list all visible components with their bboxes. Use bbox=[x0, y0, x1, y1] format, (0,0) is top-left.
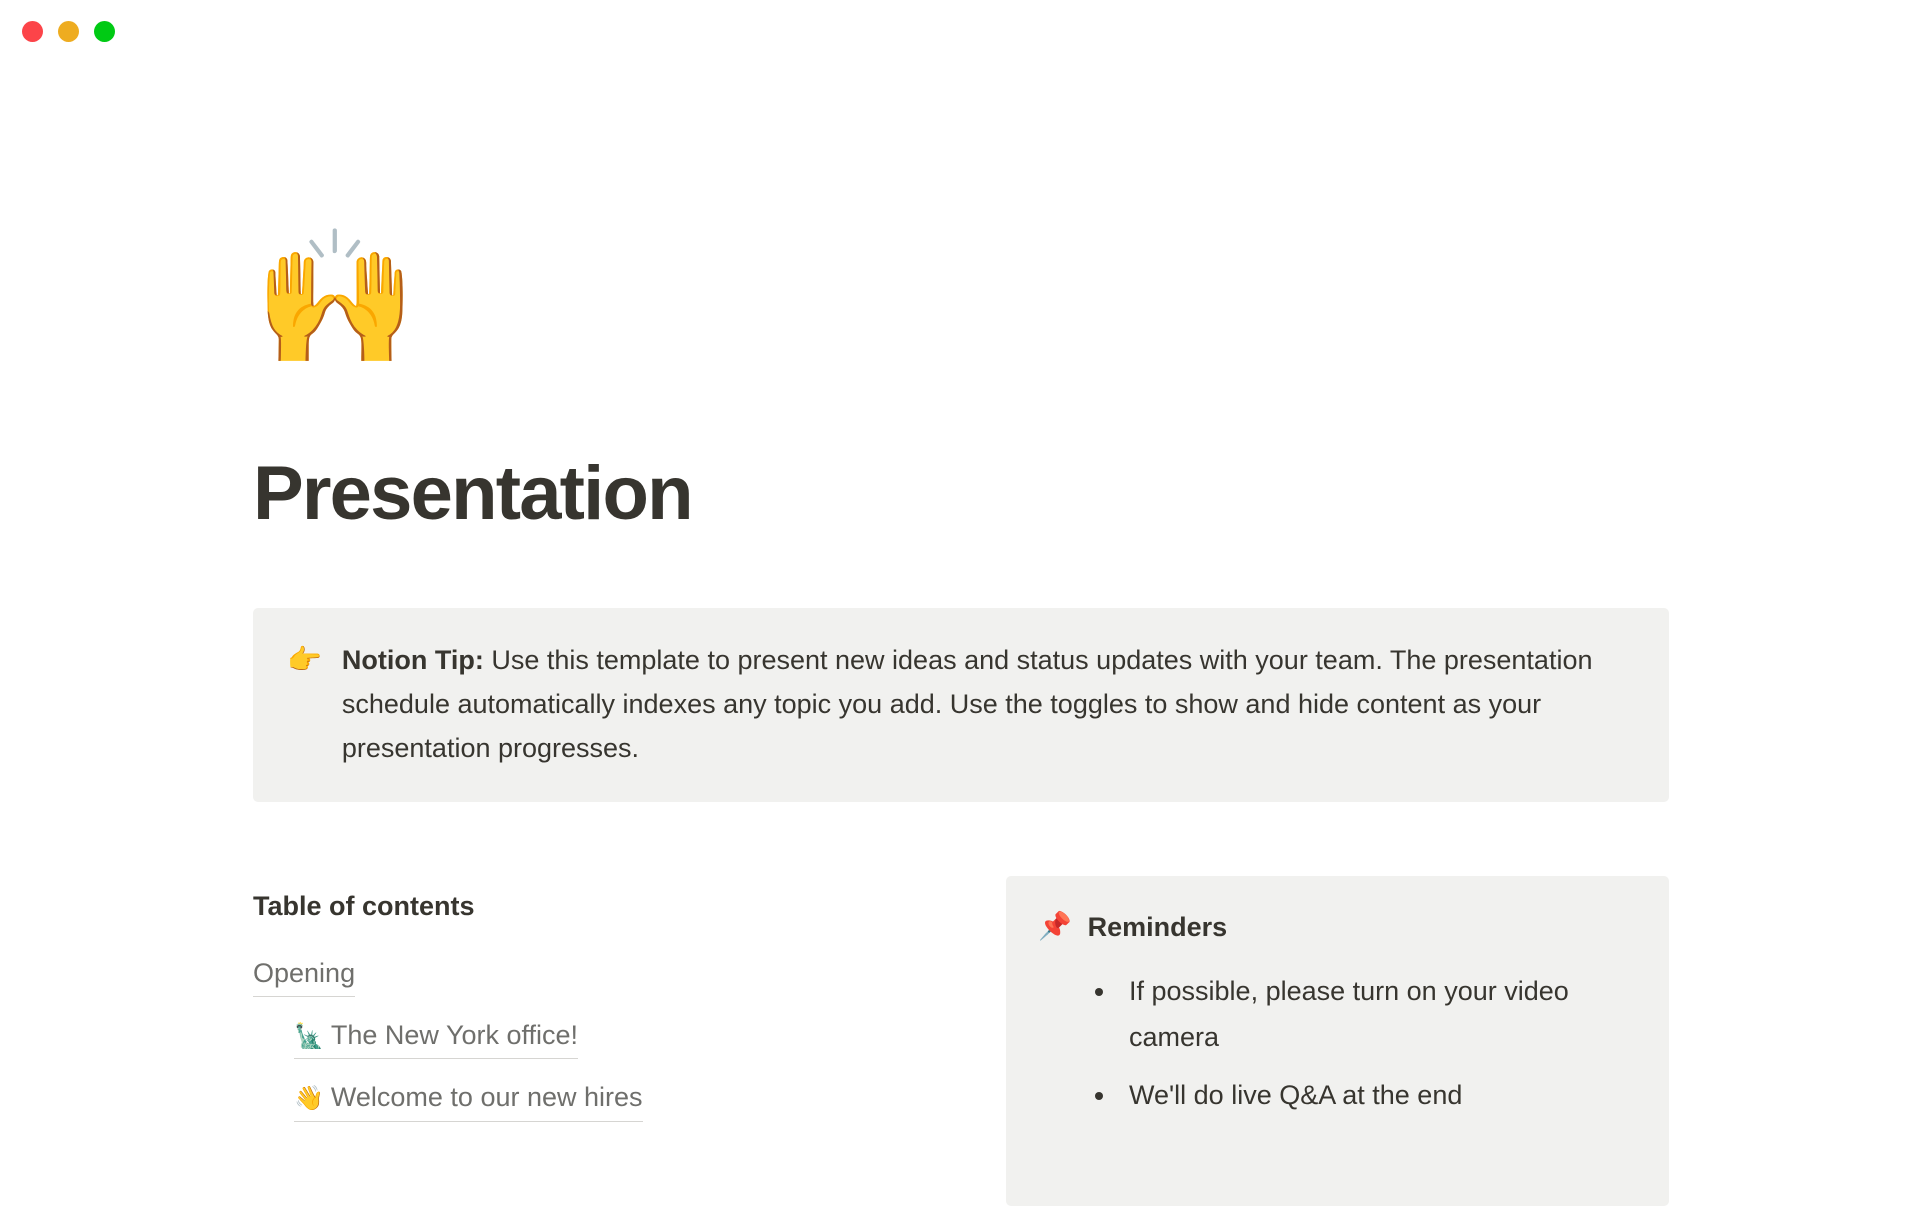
table-of-contents-heading: Table of contents bbox=[253, 889, 1006, 924]
traffic-light-group bbox=[22, 21, 115, 42]
list-item: 🗽The New York office! bbox=[253, 1016, 1006, 1059]
minimize-window-icon[interactable] bbox=[58, 21, 79, 42]
reminders-header: 📌 Reminders bbox=[1038, 908, 1639, 946]
pointing-right-icon: 👉 bbox=[287, 638, 322, 682]
reminders-list: If possible, please turn on your video c… bbox=[1038, 968, 1639, 1118]
waving-hand-icon: 👋 bbox=[294, 1084, 324, 1112]
document-page: 🙌 Presentation 👉 Notion Tip: Use this te… bbox=[0, 62, 1920, 1200]
list-item: Opening bbox=[253, 954, 1006, 997]
callout-text: Notion Tip: Use this template to present… bbox=[342, 638, 1631, 770]
callout-body: Use this template to present new ideas a… bbox=[342, 645, 1593, 763]
list-item: 👋Welcome to our new hires bbox=[253, 1078, 1006, 1121]
toc-link-opening[interactable]: Opening bbox=[253, 954, 355, 997]
reminders-title: Reminders bbox=[1088, 908, 1228, 946]
toc-link-new-york-office[interactable]: 🗽The New York office! bbox=[294, 1016, 578, 1059]
table-of-contents-column: Table of contents Opening 🗽The New York … bbox=[253, 876, 1006, 1206]
two-column-section: Table of contents Opening 🗽The New York … bbox=[253, 876, 1669, 1206]
pushpin-icon: 📌 bbox=[1038, 908, 1072, 946]
toc-link-label: Welcome to our new hires bbox=[331, 1082, 643, 1112]
callout-label: Notion Tip: bbox=[342, 645, 484, 675]
page-title[interactable]: Presentation bbox=[253, 452, 692, 536]
window-titlebar bbox=[0, 0, 1920, 62]
table-of-contents-list: Opening 🗽The New York office! 👋Welcome t… bbox=[253, 954, 1006, 1121]
page-emoji-icon[interactable]: 🙌 bbox=[253, 232, 417, 364]
notion-tip-callout[interactable]: 👉 Notion Tip: Use this template to prese… bbox=[253, 608, 1669, 802]
toc-link-label: The New York office! bbox=[331, 1020, 578, 1050]
maximize-window-icon[interactable] bbox=[94, 21, 115, 42]
reminders-callout[interactable]: 📌 Reminders If possible, please turn on … bbox=[1006, 876, 1669, 1206]
list-item: We'll do live Q&A at the end bbox=[1095, 1072, 1639, 1118]
reminders-column: 📌 Reminders If possible, please turn on … bbox=[1006, 876, 1669, 1206]
close-window-icon[interactable] bbox=[22, 21, 43, 42]
statue-of-liberty-icon: 🗽 bbox=[294, 1022, 324, 1050]
toc-link-label: Opening bbox=[253, 958, 355, 988]
toc-link-welcome-new-hires[interactable]: 👋Welcome to our new hires bbox=[294, 1078, 643, 1121]
list-item: If possible, please turn on your video c… bbox=[1095, 968, 1639, 1060]
